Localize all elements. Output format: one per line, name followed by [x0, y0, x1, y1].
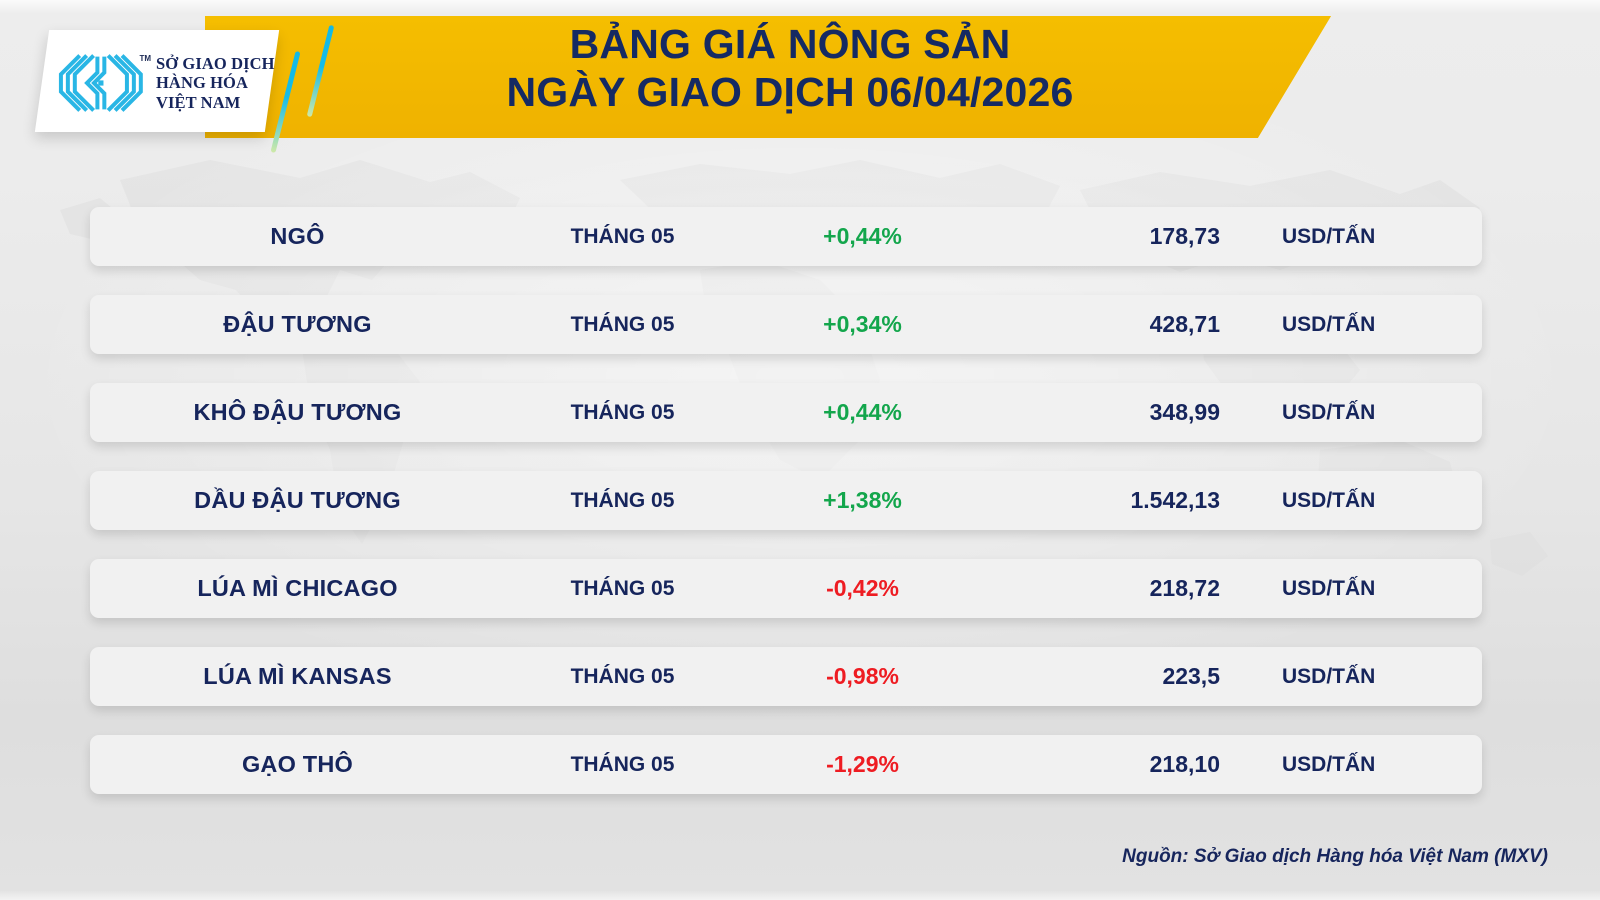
- price-unit: USD/TẤN: [1230, 401, 1482, 425]
- table-row[interactable]: LÚA MÌ KANSASTHÁNG 05-0,98%223,5USD/TẤN: [90, 647, 1482, 706]
- table-row[interactable]: LÚA MÌ CHICAGOTHÁNG 05-0,42%218,72USD/TẤ…: [90, 559, 1482, 618]
- price-value: 428,71: [985, 311, 1230, 338]
- price-unit: USD/TẤN: [1230, 313, 1482, 337]
- price-value: 218,72: [985, 575, 1230, 602]
- commodity-name: DẦU ĐẬU TƯƠNG: [90, 487, 505, 514]
- logo-wordmark: SỞ GIAO DỊCH HÀNG HÓA VIỆT NAM: [156, 54, 275, 112]
- contract-month: THÁNG 05: [505, 577, 740, 601]
- price-unit: USD/TẤN: [1230, 225, 1482, 249]
- price-value: 218,10: [985, 751, 1230, 778]
- price-table: NGÔTHÁNG 05+0,44%178,73USD/TẤNĐẬU TƯƠNGT…: [90, 207, 1482, 794]
- mxv-logo-icon: TM: [52, 50, 148, 116]
- logo: TM SỞ GIAO DỊCH HÀNG HÓA VIỆT NAM: [52, 38, 282, 128]
- price-value: 1.542,13: [985, 487, 1230, 514]
- header: TM SỞ GIAO DỊCH HÀNG HÓA VIỆT NAM BẢNG G…: [0, 16, 1600, 138]
- background-top-edge: [0, 0, 1600, 14]
- logo-line-3: VIỆT NAM: [156, 93, 275, 112]
- contract-month: THÁNG 05: [505, 665, 740, 689]
- price-unit: USD/TẤN: [1230, 665, 1482, 689]
- logo-line-2: HÀNG HÓA: [156, 73, 275, 92]
- table-row[interactable]: KHÔ ĐẬU TƯƠNGTHÁNG 05+0,44%348,99USD/TẤN: [90, 383, 1482, 442]
- contract-month: THÁNG 05: [505, 401, 740, 425]
- percent-change: -0,42%: [740, 575, 985, 602]
- contract-month: THÁNG 05: [505, 225, 740, 249]
- source-note: Nguồn: Sở Giao dịch Hàng hóa Việt Nam (M…: [1122, 846, 1548, 868]
- price-value: 223,5: [985, 663, 1230, 690]
- page-title: BẢNG GIÁ NÔNG SẢN NGÀY GIAO DỊCH 06/04/2…: [330, 24, 1250, 114]
- commodity-name: NGÔ: [90, 223, 505, 250]
- contract-month: THÁNG 05: [505, 313, 740, 337]
- table-row[interactable]: ĐẬU TƯƠNGTHÁNG 05+0,34%428,71USD/TẤN: [90, 295, 1482, 354]
- price-unit: USD/TẤN: [1230, 577, 1482, 601]
- table-row[interactable]: GẠO THÔTHÁNG 05-1,29%218,10USD/TẤN: [90, 735, 1482, 794]
- logo-line-1: SỞ GIAO DỊCH: [156, 54, 275, 73]
- price-value: 178,73: [985, 223, 1230, 250]
- commodity-name: ĐẬU TƯƠNG: [90, 311, 505, 338]
- commodity-name: KHÔ ĐẬU TƯƠNG: [90, 399, 505, 426]
- title-line-2: NGÀY GIAO DỊCH 06/04/2026: [330, 72, 1250, 114]
- percent-change: +0,44%: [740, 399, 985, 426]
- percent-change: -0,98%: [740, 663, 985, 690]
- table-row[interactable]: NGÔTHÁNG 05+0,44%178,73USD/TẤN: [90, 207, 1482, 266]
- commodity-name: LÚA MÌ KANSAS: [90, 663, 505, 690]
- price-unit: USD/TẤN: [1230, 753, 1482, 777]
- contract-month: THÁNG 05: [505, 753, 740, 777]
- commodity-name: LÚA MÌ CHICAGO: [90, 575, 505, 602]
- table-row[interactable]: DẦU ĐẬU TƯƠNGTHÁNG 05+1,38%1.542,13USD/T…: [90, 471, 1482, 530]
- percent-change: -1,29%: [740, 751, 985, 778]
- trademark-label: TM: [139, 54, 151, 63]
- price-board-screen: TM SỞ GIAO DỊCH HÀNG HÓA VIỆT NAM BẢNG G…: [0, 0, 1600, 900]
- percent-change: +0,44%: [740, 223, 985, 250]
- percent-change: +1,38%: [740, 487, 985, 514]
- title-line-1: BẢNG GIÁ NÔNG SẢN: [330, 24, 1250, 66]
- price-value: 348,99: [985, 399, 1230, 426]
- background-bottom-edge: [0, 890, 1600, 900]
- price-unit: USD/TẤN: [1230, 489, 1482, 513]
- commodity-name: GẠO THÔ: [90, 751, 505, 778]
- percent-change: +0,34%: [740, 311, 985, 338]
- contract-month: THÁNG 05: [505, 489, 740, 513]
